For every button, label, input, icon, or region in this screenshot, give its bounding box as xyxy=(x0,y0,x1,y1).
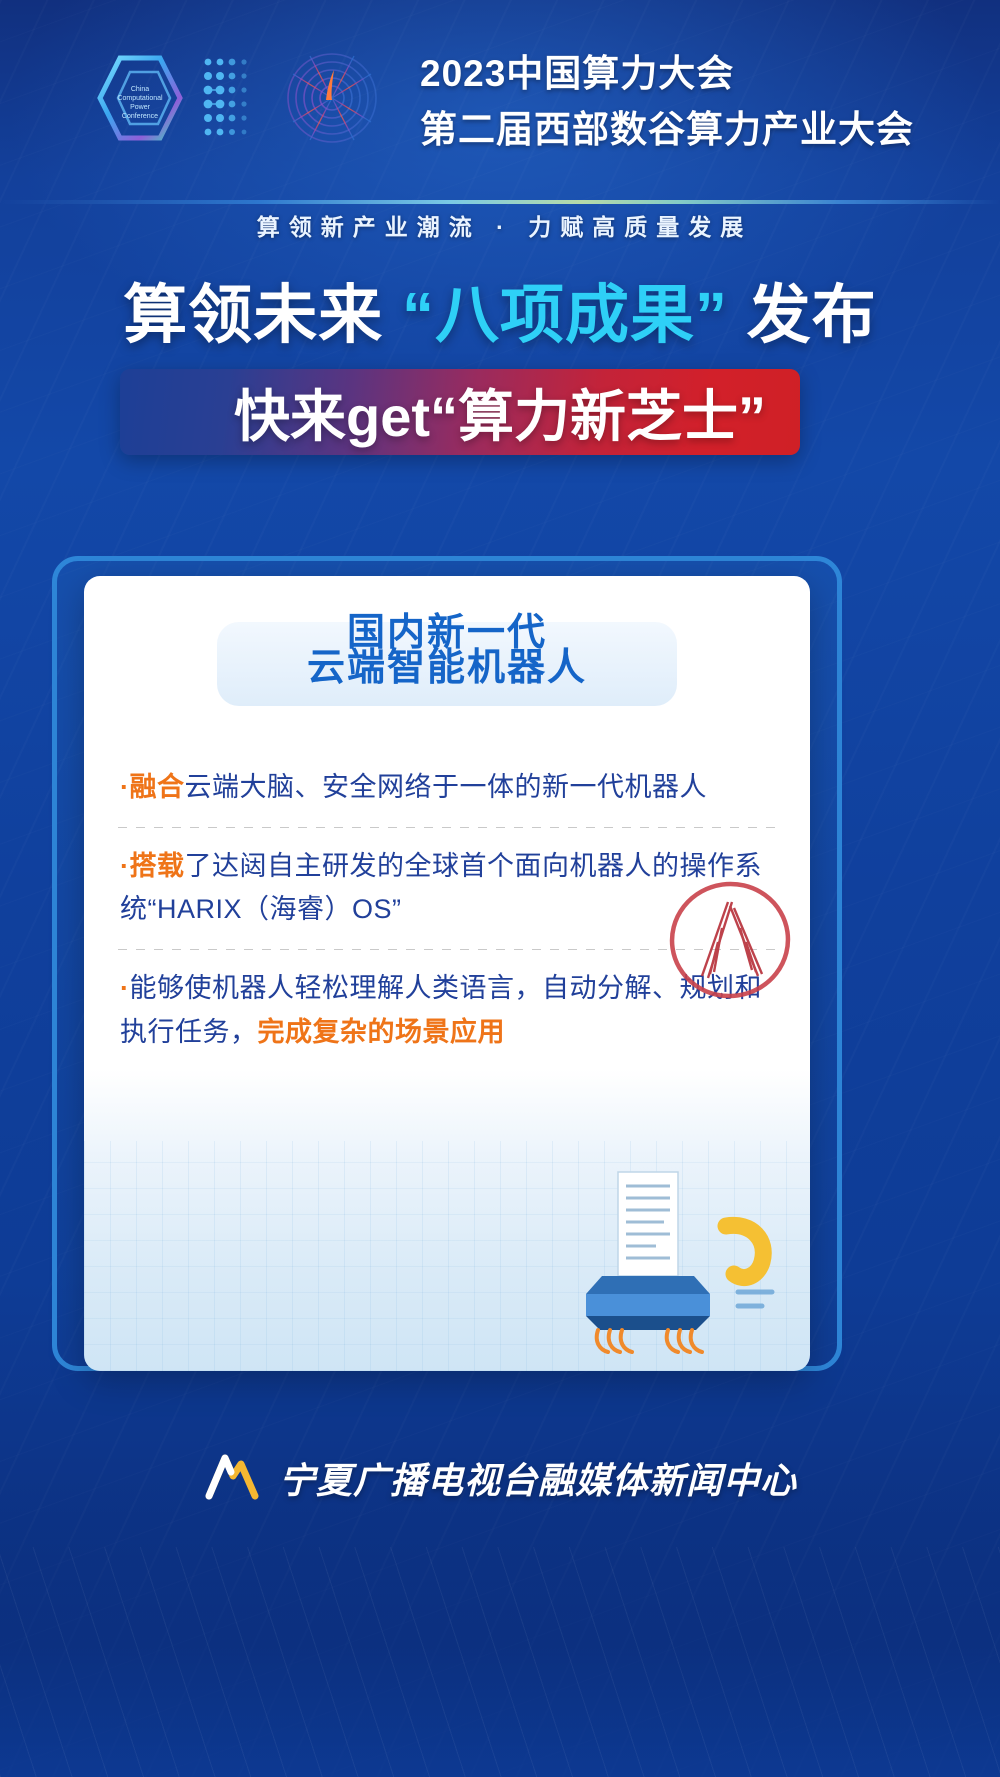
slogan-bar: 算领新产业潮流 · 力赋高质量发展 xyxy=(0,196,1000,248)
svg-text:Conference: Conference xyxy=(122,113,158,120)
result-card: 国内新一代 云端智能机器人 ·融合云端大脑、安全网络于一体的新一代机器人 ·搭载… xyxy=(84,576,810,1371)
main-title-part-a: 算领未来 xyxy=(123,279,383,351)
conference-title-line1: 2023中国算力大会 xyxy=(420,43,734,97)
document-server-illustration xyxy=(556,1164,796,1364)
bottom-line-pattern xyxy=(0,1547,1000,1777)
main-title-line2: 快来get“算力新芝士” xyxy=(0,369,1000,455)
bullet-separator xyxy=(118,949,776,950)
main-title-part-b: “八项成果” xyxy=(402,279,728,351)
bullet-marker: · xyxy=(120,772,130,802)
poster-header: China Computational Power Conference xyxy=(0,0,1000,196)
card-bullet-list: ·融合云端大脑、安全网络于一体的新一代机器人 ·搭载了达闼自主研发的全球首个面向… xyxy=(84,766,810,1055)
poster-footer: 宁夏广播电视台融媒体新闻中心 xyxy=(0,1418,1000,1538)
ningxia-media-logo xyxy=(203,1452,263,1504)
conference-title-line2: 第二届西部数谷算力产业大会 xyxy=(420,99,914,153)
bullet-text: 了达闼自主研发的全球首个面向机器人的操作系统“HARIX（海睿）OS” xyxy=(120,851,762,925)
dot-matrix-icon xyxy=(200,48,258,148)
bullet-separator xyxy=(118,827,776,828)
logo-group: China Computational Power Conference xyxy=(86,44,258,152)
bullet-highlight: 融合 xyxy=(130,772,185,802)
svg-text:Computational: Computational xyxy=(117,95,163,102)
list-item: ·能够使机器人轻松理解人类语言，自动分解、规划和执行任务，完成复杂的场景应用 xyxy=(84,967,810,1054)
slogan-text: 算领新产业潮流 · 力赋高质量发展 xyxy=(0,208,1000,242)
card-heading-line2: 云端智能机器人 xyxy=(84,636,810,691)
svg-text:China: China xyxy=(131,86,149,93)
china-computational-power-conference-logo: China Computational Power Conference xyxy=(86,44,194,152)
bullet-highlight: 搭载 xyxy=(130,851,185,881)
bullet-marker: · xyxy=(120,851,130,881)
main-title-line2-wrap: 快来get“算力新芝士” xyxy=(0,369,1000,455)
slogan-divider xyxy=(0,200,1000,204)
main-title-part-c: 发布 xyxy=(747,279,877,351)
bullet-tail-highlight: 完成复杂的场景应用 xyxy=(258,1017,506,1047)
bullet-marker: · xyxy=(120,973,130,1003)
list-item: ·搭载了达闼自主研发的全球首个面向机器人的操作系统“HARIX（海睿）OS” xyxy=(84,845,810,932)
data-valley-fan-logo xyxy=(276,44,388,152)
svg-text:Power: Power xyxy=(130,104,151,111)
list-item: ·融合云端大脑、安全网络于一体的新一代机器人 xyxy=(84,766,810,810)
conference-title: 2023中国算力大会 第二届西部数谷算力产业大会 xyxy=(420,43,914,153)
main-title-block: 算领未来 “八项成果” 发布 快来get“算力新芝士” xyxy=(0,283,1000,455)
bullet-text: 云端大脑、安全网络于一体的新一代机器人 xyxy=(185,772,708,802)
footer-brand: 宁夏广播电视台融媒体新闻中心 xyxy=(279,1452,797,1504)
main-title-line1: 算领未来 “八项成果” 发布 xyxy=(0,283,1000,347)
